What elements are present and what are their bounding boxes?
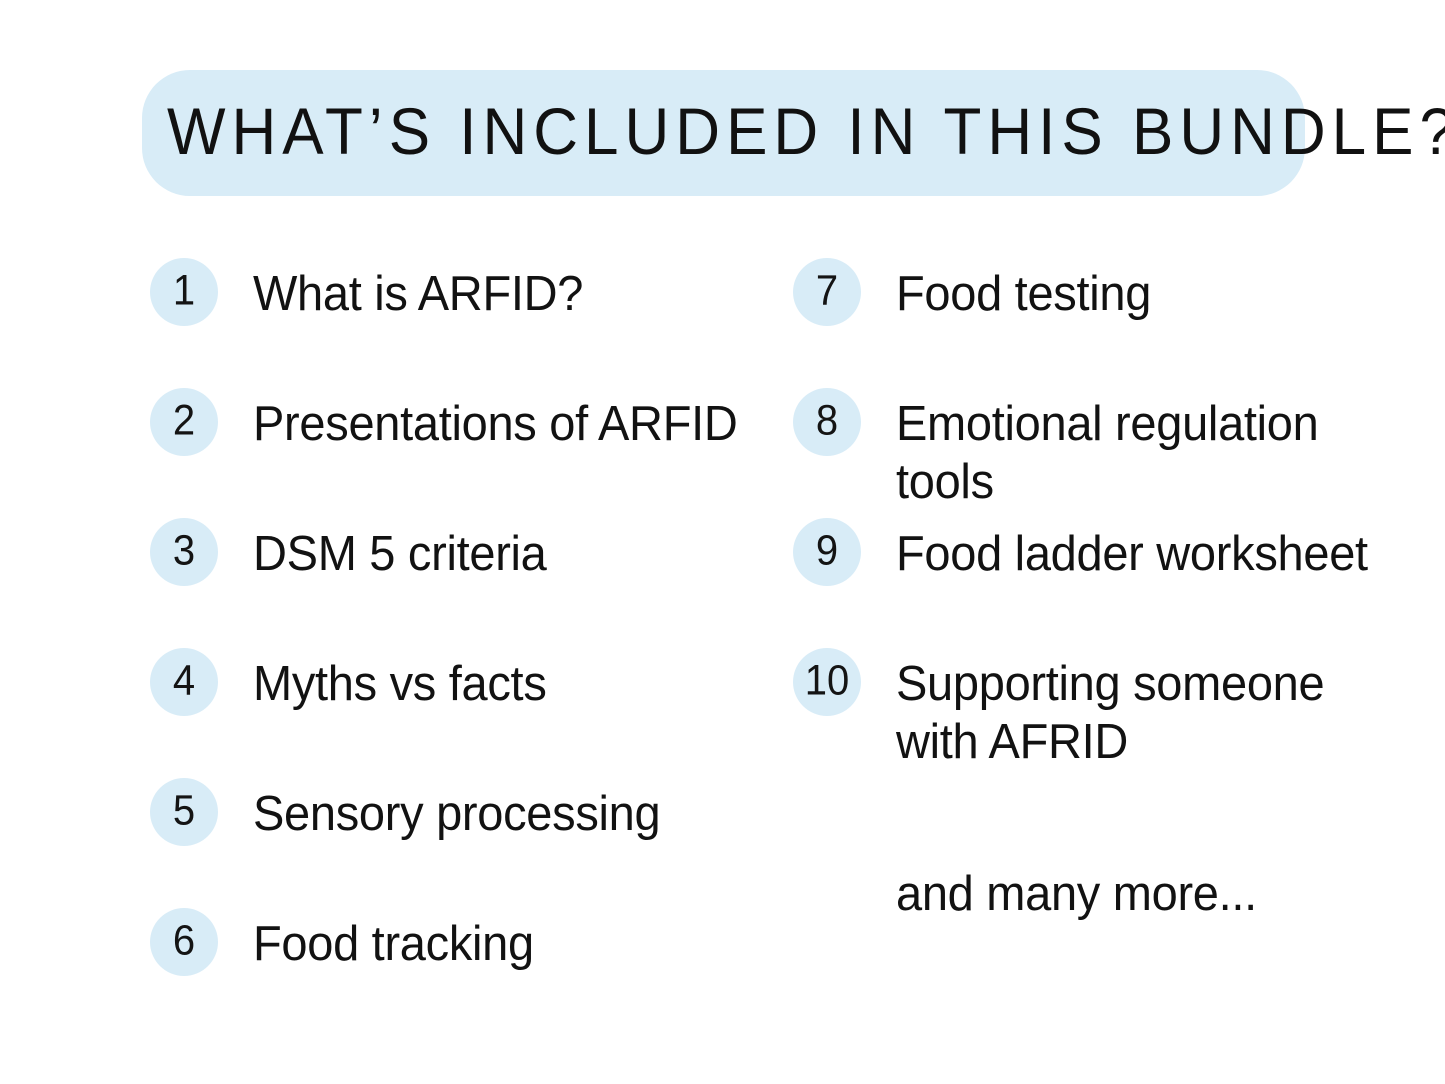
- list-item[interactable]: 3 DSM 5 criteria: [150, 518, 770, 648]
- list-item[interactable]: 5 Sensory processing: [150, 778, 770, 908]
- badge-number: 7: [816, 270, 838, 312]
- number-badge: 7: [793, 258, 861, 326]
- badge-number: 10: [805, 660, 850, 702]
- badge-number: 9: [816, 530, 838, 572]
- badge-number: 1: [173, 270, 195, 312]
- list-item[interactable]: 8 Emotional regulation tools: [793, 388, 1413, 518]
- number-badge: 3: [150, 518, 218, 586]
- number-badge: 4: [150, 648, 218, 716]
- number-badge: 10: [793, 648, 861, 716]
- list-item[interactable]: 7 Food testing: [793, 258, 1413, 388]
- number-badge: 6: [150, 908, 218, 976]
- list-item-label: Food ladder worksheet: [896, 524, 1416, 582]
- bundle-contents-list: 1 What is ARFID? 2 Presentations of ARFI…: [0, 0, 1445, 1084]
- list-item-label: What is ARFID?: [253, 264, 753, 322]
- number-badge: 8: [793, 388, 861, 456]
- number-badge: 5: [150, 778, 218, 846]
- badge-number: 3: [173, 530, 195, 572]
- number-badge: 9: [793, 518, 861, 586]
- list-item[interactable]: 1 What is ARFID?: [150, 258, 770, 388]
- list-item-label: Myths vs facts: [253, 654, 753, 712]
- list-item[interactable]: 9 Food ladder worksheet: [793, 518, 1413, 648]
- list-item-label: Supporting someone with AFRID: [896, 654, 1416, 770]
- list-item-label: Food testing: [896, 264, 1416, 322]
- badge-number: 8: [816, 400, 838, 442]
- badge-number: 4: [173, 660, 195, 702]
- list-item-label: Emotional regulation tools: [896, 394, 1416, 510]
- list-item[interactable]: 4 Myths vs facts: [150, 648, 770, 778]
- list-item[interactable]: 10 Supporting someone with AFRID and man…: [793, 648, 1413, 778]
- number-badge: 1: [150, 258, 218, 326]
- badge-number: 2: [173, 400, 195, 442]
- badge-number: 5: [173, 790, 195, 832]
- list-item-label: Presentations of ARFID: [253, 394, 753, 452]
- list-item[interactable]: 2 Presentations of ARFID: [150, 388, 770, 518]
- and-many-more-note: and many more...: [896, 864, 1257, 922]
- list-item-label: DSM 5 criteria: [253, 524, 753, 582]
- number-badge: 2: [150, 388, 218, 456]
- left-column: 1 What is ARFID? 2 Presentations of ARFI…: [150, 258, 770, 1038]
- right-column: 7 Food testing 8 Emotional regulation to…: [793, 258, 1413, 778]
- slide-canvas: WHAT’S INCLUDED IN THIS BUNDLE? 1 What i…: [0, 0, 1445, 1084]
- badge-number: 6: [173, 920, 195, 962]
- list-item-label: Food tracking: [253, 914, 753, 972]
- list-item-label: Sensory processing: [253, 784, 753, 842]
- list-item[interactable]: 6 Food tracking: [150, 908, 770, 1038]
